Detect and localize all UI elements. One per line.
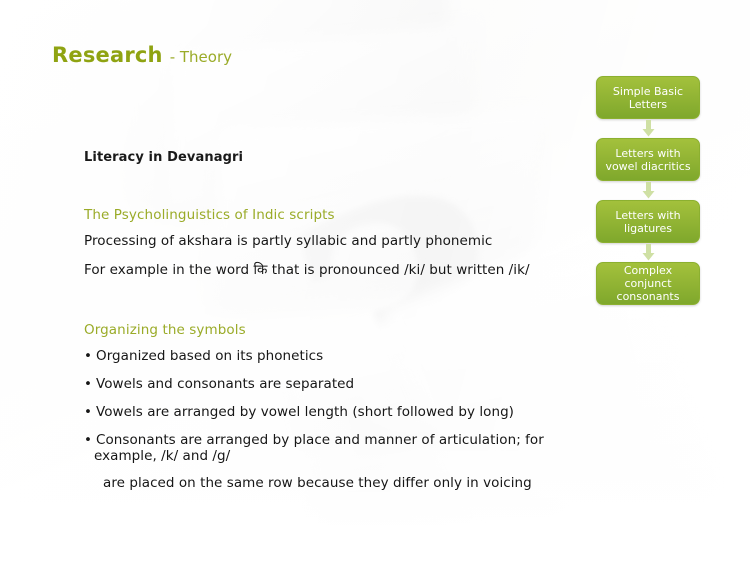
list-item: •Vowels are arranged by vowel length (sh… [84, 404, 604, 420]
arrow-down-icon [596, 243, 700, 262]
list-item-text: Consonants are arranged by place and man… [94, 432, 544, 464]
flow-box-complex-conjunct-consonants[interactable]: Complex conjunct consonants [596, 262, 700, 305]
page-title: Research- Theory [52, 43, 232, 67]
bullet-marker: • [84, 432, 92, 448]
arrow-down-icon [596, 181, 700, 200]
page-title-subtitle: - Theory [170, 48, 232, 66]
page-title-main: Research [52, 43, 163, 67]
section-line: Processing of akshara is partly syllabic… [84, 233, 604, 249]
section-line: For example in the word कि that is prono… [84, 260, 604, 278]
section-spacer [84, 289, 604, 322]
list-item: •Vowels and consonants are separated [84, 376, 604, 392]
lead-heading: Literacy in Devanagri [84, 150, 604, 165]
bullet-marker: • [84, 376, 92, 392]
bullet-marker: • [84, 404, 92, 420]
flow-box-letters-with-vowel-diacritics[interactable]: Letters with vowel diacritics [596, 138, 700, 181]
list-item: •Consonants are arranged by place and ma… [84, 432, 604, 491]
section-heading-organizing: Organizing the symbols [84, 322, 604, 338]
list-item-text: Vowels and consonants are separated [96, 376, 354, 392]
arrow-down-icon [596, 119, 700, 138]
bullet-marker: • [84, 348, 92, 364]
list-item-text: Organized based on its phonetics [96, 348, 323, 364]
list-item-continuation: are placed on the same row because they … [94, 475, 604, 491]
flow-box-simple-basic-letters[interactable]: Simple Basic Letters [596, 76, 700, 119]
list-item: •Organized based on its phonetics [84, 348, 604, 364]
flow-box-letters-with-ligatures[interactable]: Letters with ligatures [596, 200, 700, 243]
list-item-text: Vowels are arranged by vowel length (sho… [96, 404, 514, 420]
body-column: Literacy in Devanagri The Psycholinguist… [84, 150, 604, 503]
section-heading-psycholinguistics: The Psycholinguistics of Indic scripts [84, 207, 604, 223]
slide-content: Research- Theory Literacy in Devanagri T… [0, 0, 750, 563]
process-flow-diagram: Simple Basic Letters Letters with vowel … [596, 76, 700, 305]
